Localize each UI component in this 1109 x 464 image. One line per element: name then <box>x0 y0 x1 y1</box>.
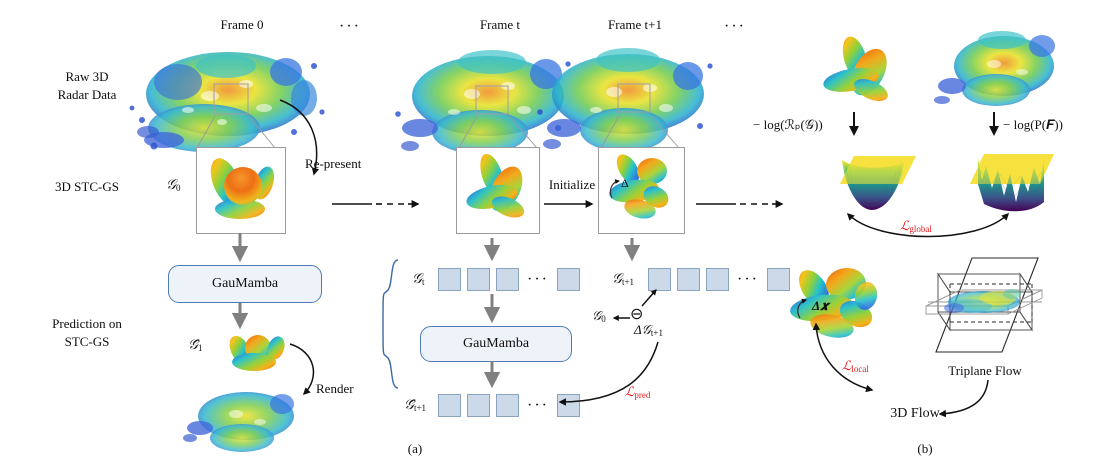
arrow-initialize <box>544 196 600 212</box>
arrow-down-into-seq-gt <box>485 238 499 266</box>
g1-hat-sub: 1 <box>198 343 203 353</box>
frame-title-frame-0: Frame 0 <box>182 16 302 34</box>
radar-cloud-panel-b <box>930 24 1070 116</box>
frames-ellipsis-2: ··· <box>715 16 755 38</box>
seq-label-gt-base: 𝒢 <box>412 272 422 287</box>
token[interactable] <box>677 268 700 291</box>
gaussians-panel-b-global <box>815 32 905 114</box>
seq-label-gt1-hat-sub: t+1 <box>414 403 426 413</box>
arrow-residual-to-g0 <box>610 312 632 324</box>
loss-global-label: ℒglobal <box>900 218 932 234</box>
token[interactable] <box>496 394 519 417</box>
residual-g0-sub: 0 <box>601 314 606 324</box>
frames-ellipsis-1: ··· <box>330 16 370 38</box>
arrow-down-to-gaumamba-mid <box>485 294 499 328</box>
residual-g0: 𝒢0 <box>592 308 606 324</box>
seq-gap-dots: ··· <box>525 271 551 289</box>
g1-hat-base: 𝒢̂ <box>188 338 198 353</box>
arrow-loss-pred <box>540 340 670 412</box>
delta-x-label: Δ𝒙 <box>812 298 829 314</box>
seq-tokens-gt1: ··· <box>648 268 790 291</box>
gaussians-frame-0 <box>198 149 282 230</box>
token[interactable] <box>438 268 461 291</box>
sequence-brace <box>380 258 402 390</box>
row-label-prediction-line1: Prediction on <box>22 315 152 333</box>
gaumamba-module-left-label: GauMamba <box>212 276 278 292</box>
token[interactable] <box>496 268 519 291</box>
seq-label-gt1-sub: t+1 <box>622 277 634 287</box>
residual-g0-base: 𝒢 <box>592 308 601 323</box>
seq-label-gt: 𝒢t <box>412 272 424 288</box>
frame-title-frame-t1: Frame t+1 <box>575 16 695 34</box>
gaussian-label-g1-hat: 𝒢̂1 <box>188 338 202 354</box>
loss-local-base: ℒ <box>842 358 851 373</box>
arrow-label-re-present: Re-present <box>305 155 385 173</box>
arrow-residual-up <box>640 286 662 308</box>
row-label-stc-gs: 3D STC-GS <box>22 178 152 196</box>
gaumamba-module-left[interactable]: GauMamba <box>168 265 322 303</box>
loss-global-base: ℒ <box>900 218 909 233</box>
gaussian-label-g0: 𝒢0 <box>166 178 180 194</box>
loss-pred-label: ℒpred <box>625 384 650 400</box>
arrow-re-present <box>276 94 356 190</box>
triplane-flow-label: Triplane Flow <box>925 362 1045 380</box>
g0-sub: 0 <box>176 183 181 193</box>
formula-neg-log-rp-g: − log(ℛₚ(𝒢)) <box>753 117 823 133</box>
arrow-label-render: Render <box>316 380 372 398</box>
arrow-down-global-left <box>848 112 860 142</box>
seq-label-gt-sub: t <box>422 277 425 287</box>
loss-pred-base: ℒ <box>625 384 634 399</box>
arrow-label-initialize: Initialize <box>540 176 604 194</box>
row-label-stc-gs-line1: 3D STC-GS <box>22 178 152 196</box>
gaussians-frame-t <box>458 149 536 230</box>
token[interactable] <box>467 268 490 291</box>
arrow-sequence-1 <box>330 196 422 212</box>
arrow-down-global-right <box>988 112 1000 142</box>
seq-label-gt1-hat: 𝒢̂t+1 <box>404 398 426 414</box>
row-label-prediction: Prediction on STC-GS <box>22 315 152 350</box>
frame-title-frame-t: Frame t <box>440 16 560 34</box>
seq-gap-dots: ··· <box>735 271 761 289</box>
token[interactable] <box>706 268 729 291</box>
gaussians-prediction <box>218 330 296 380</box>
arrow-sequence-2 <box>694 196 786 212</box>
panel-a-caption: (a) <box>395 440 435 458</box>
token[interactable] <box>467 394 490 417</box>
loss-global-sub: global <box>909 224 932 234</box>
residual-delta-g: Δ𝒢t+1 <box>634 322 663 338</box>
triplane-flow-diagram <box>920 250 1050 360</box>
row-label-prediction-line2: STC-GS <box>22 333 152 351</box>
seq-tokens-gt: ··· <box>438 268 580 291</box>
token[interactable] <box>557 268 580 291</box>
flow-label-3d-flow: 3D Flow <box>880 405 950 424</box>
gaumamba-module-mid-label: GauMamba <box>463 336 529 352</box>
arrow-down-to-gaumamba <box>233 233 247 267</box>
loss-local-sub: local <box>851 364 869 374</box>
seq-label-gt1: 𝒢t+1 <box>612 272 634 288</box>
loss-local-label: ℒlocal <box>842 358 869 374</box>
residual-delta-base: Δ𝒢 <box>634 322 651 337</box>
residual-delta-sub: t+1 <box>651 328 663 338</box>
delta-label-frame-t1: Δ <box>621 176 629 191</box>
g0-base: 𝒢 <box>166 178 176 193</box>
arrow-down-from-gaumamba-mid <box>485 361 499 393</box>
panel-b-caption: (b) <box>905 440 945 458</box>
seq-label-gt1-base: 𝒢 <box>612 272 622 287</box>
loss-pred-sub: pred <box>634 390 650 400</box>
seq-label-gt1-hat-base: 𝒢̂ <box>404 398 414 413</box>
token[interactable] <box>438 394 461 417</box>
formula-neg-log-p-f: − log(P(𝑭)) <box>1003 117 1063 133</box>
arrow-down-into-seq-gt1 <box>625 238 639 266</box>
radar-cloud-rendered <box>176 382 316 460</box>
